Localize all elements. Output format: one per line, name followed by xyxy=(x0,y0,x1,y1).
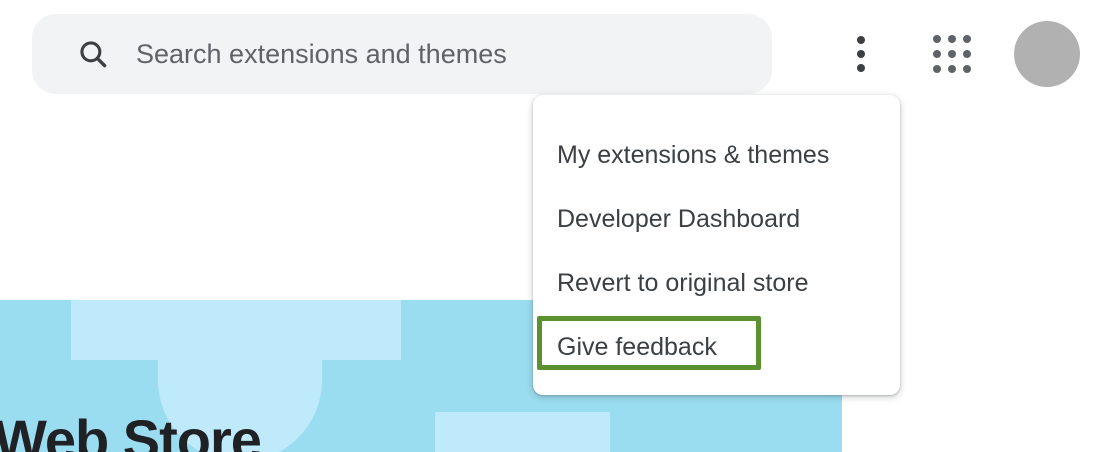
apps-grid-dot xyxy=(948,35,956,43)
menu-item-give-feedback[interactable]: Give feedback xyxy=(533,315,900,379)
apps-grid-icon xyxy=(933,35,971,73)
apps-grid-dot xyxy=(933,50,941,58)
apps-grid-dot xyxy=(948,50,956,58)
overflow-dropdown-menu: My extensions & themes Developer Dashboa… xyxy=(533,95,900,395)
hero-title: Web Store xyxy=(0,412,261,452)
menu-item-developer-dashboard[interactable]: Developer Dashboard xyxy=(533,187,900,251)
apps-grid-button[interactable] xyxy=(925,26,979,82)
more-vert-dot xyxy=(857,50,865,58)
more-vert-icon xyxy=(857,36,865,72)
screen-root: Web Store My extension xyxy=(0,0,1120,452)
overflow-menu-button[interactable] xyxy=(838,26,884,82)
search-bar[interactable] xyxy=(32,14,772,94)
menu-item-my-extensions-and-themes[interactable]: My extensions & themes xyxy=(533,123,900,187)
more-vert-dot xyxy=(857,64,865,72)
avatar[interactable] xyxy=(1014,21,1080,87)
apps-grid-dot xyxy=(963,50,971,58)
apps-grid-dot xyxy=(933,35,941,43)
menu-item-revert-to-original-store[interactable]: Revert to original store xyxy=(533,251,900,315)
apps-grid-dot xyxy=(963,65,971,73)
apps-grid-dot xyxy=(933,65,941,73)
apps-grid-dot xyxy=(963,35,971,43)
hero-decoration-rectangle-bottom xyxy=(435,412,610,452)
apps-grid-dot xyxy=(948,65,956,73)
more-vert-dot xyxy=(857,36,865,44)
search-icon xyxy=(76,37,110,71)
search-input[interactable] xyxy=(134,37,746,71)
